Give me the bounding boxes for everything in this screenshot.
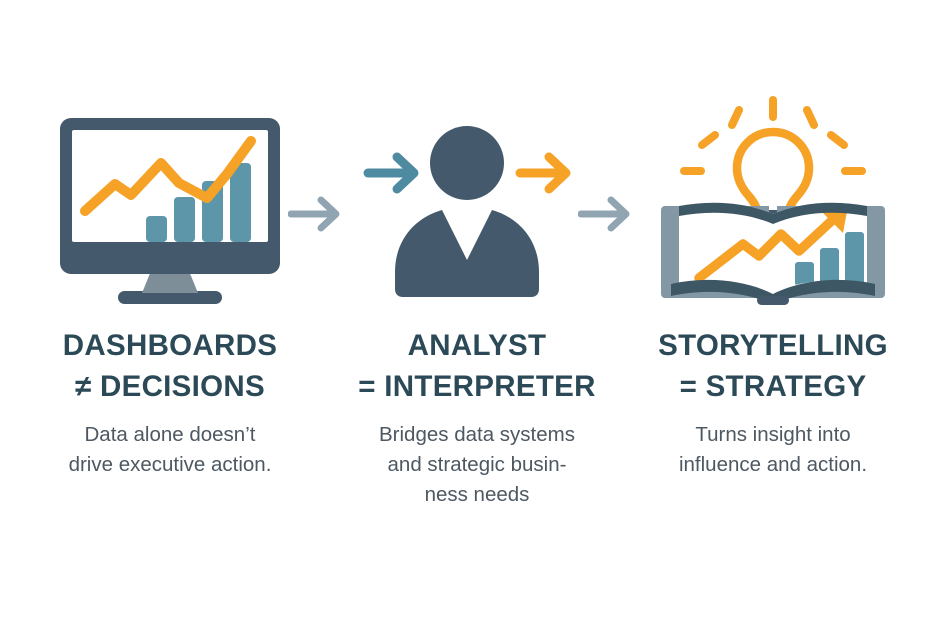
person-with-arrows-icon: [362, 111, 592, 311]
body-line-2: and strategic busin-: [379, 450, 575, 480]
teal-bar-3: [845, 232, 864, 286]
body-line-2: influence and action.: [679, 450, 867, 480]
column-analyst: ANALYST = INTERPRETER Bridges data syste…: [332, 96, 622, 510]
teal-bar-2: [174, 197, 195, 242]
desktop-monitor-chart-icon-area: [25, 96, 315, 311]
open-book-lightbulb-chart-icon: [653, 96, 893, 311]
headline-analyst: ANALYST = INTERPRETER: [358, 325, 595, 407]
teal-bar-4: [230, 163, 251, 242]
column-storytelling: STORYTELLING = STRATEGY Turns insight in…: [628, 96, 918, 480]
body-line-1: Data alone doesn’t: [69, 420, 272, 450]
body-line-3: ness needs: [379, 480, 575, 510]
open-book-lightbulb-chart-icon-area: [628, 96, 918, 311]
person-head: [430, 126, 504, 200]
body-copy-storytelling: Turns insight into influence and action.: [679, 420, 867, 480]
teal-bar-1: [146, 216, 167, 242]
headline-line-2: = INTERPRETER: [358, 366, 595, 407]
body-line-1: Turns insight into: [679, 420, 867, 450]
infographic-canvas: DASHBOARDS ≠ DECISIONS Data alone doesn’…: [0, 0, 935, 624]
column-dashboards: DASHBOARDS ≠ DECISIONS Data alone doesn’…: [25, 96, 315, 480]
inbound-teal-arrow: [368, 157, 414, 189]
headline-line-1: STORYTELLING: [658, 325, 888, 366]
lightbulb-outline: [737, 132, 809, 213]
body-line-2: drive executive action.: [69, 450, 272, 480]
body-copy-dashboards: Data alone doesn’t drive executive actio…: [69, 420, 272, 480]
person-shoulders: [395, 210, 539, 297]
headline-line-2: ≠ DECISIONS: [63, 366, 277, 407]
headline-storytelling: STORYTELLING = STRATEGY: [658, 325, 888, 407]
headline-line-1: DASHBOARDS: [63, 325, 277, 366]
book-spine: [757, 296, 789, 305]
body-copy-analyst: Bridges data systems and strategic busin…: [379, 420, 575, 510]
headline-line-1: ANALYST: [358, 325, 595, 366]
headline-line-2: = STRATEGY: [658, 366, 888, 407]
monitor-stand: [142, 271, 198, 293]
desktop-monitor-chart-icon: [55, 111, 285, 311]
headline-dashboards: DASHBOARDS ≠ DECISIONS: [63, 325, 277, 407]
outbound-orange-arrow: [520, 157, 566, 189]
body-line-1: Bridges data systems: [379, 420, 575, 450]
